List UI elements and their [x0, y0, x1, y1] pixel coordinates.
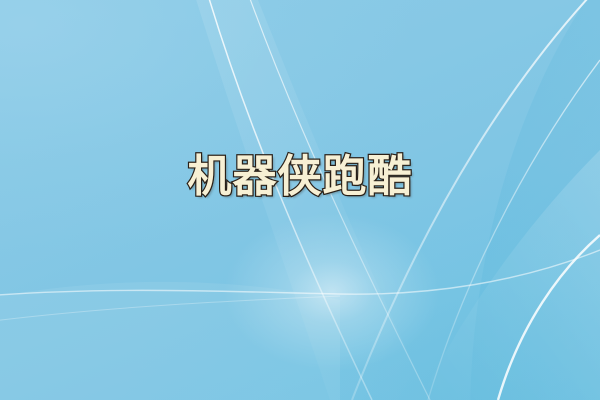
banner-root: 机器侠跑酷: [0, 0, 600, 400]
title-container: 机器侠跑酷: [0, 0, 600, 400]
page-title: 机器侠跑酷: [188, 155, 413, 199]
